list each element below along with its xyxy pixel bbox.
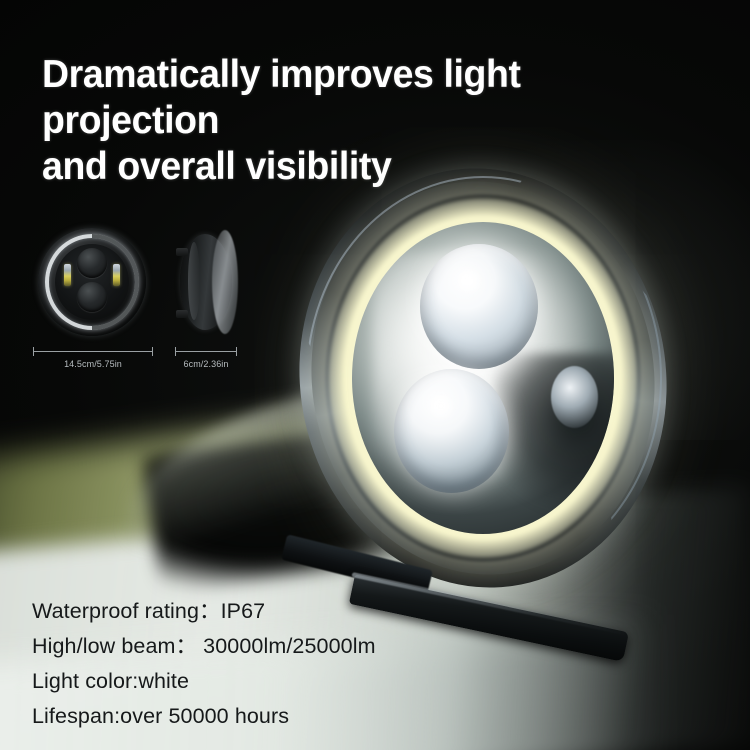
chrome-reflector-nub — [551, 366, 598, 428]
spec-lifespan: Lifespan:over 50000 hours — [32, 699, 592, 734]
thumb-front-face — [55, 244, 129, 320]
dimension-cap-right — [152, 347, 153, 356]
thumb-side-mount-tab-top — [176, 248, 188, 256]
dimension-cap-right — [236, 347, 237, 356]
product-thumbnails: 14.5cm/5.75in 6cm/2.36in — [0, 0, 290, 400]
illuminated-headlight-hero — [300, 168, 666, 588]
thumb-projector-lens-lower — [77, 282, 107, 312]
reflector-shadow — [493, 353, 614, 515]
dimension-callout-depth: 6cm/2.36in — [175, 347, 237, 369]
front-view-headlight — [38, 228, 146, 336]
spec-light-color: Light color:white — [32, 664, 592, 699]
projector-lens-upper — [420, 244, 538, 369]
thumb-side-lens-rim — [212, 230, 238, 334]
lens-specular-highlight — [424, 391, 459, 421]
thumb-projector-lens-upper — [77, 248, 107, 278]
thumb-led-strip-left — [64, 264, 71, 286]
headlight-reflector-face — [352, 222, 614, 534]
lens-specular-highlight — [451, 266, 486, 296]
side-profile-headlight — [176, 228, 240, 336]
dimension-bar — [175, 347, 237, 356]
spec-waterproof-rating: Waterproof rating：IP67 — [32, 594, 592, 629]
thumb-side-mount-tab-bottom — [176, 310, 188, 318]
projector-lens-lower — [394, 369, 509, 494]
specification-list: Waterproof rating：IP67 High/low beam： 30… — [32, 594, 592, 734]
dimension-bar — [33, 347, 153, 356]
product-marketing-image: Dramatically improves light projection a… — [0, 0, 750, 750]
dimension-cap-left — [175, 347, 176, 356]
dimension-label: 6cm/2.36in — [175, 359, 237, 369]
dimension-cap-left — [33, 347, 34, 356]
dimension-callout-diameter: 14.5cm/5.75in — [33, 347, 153, 369]
thumb-side-ridge — [188, 242, 200, 320]
thumb-led-strip-right — [113, 264, 120, 286]
dimension-label: 14.5cm/5.75in — [33, 359, 153, 369]
spec-beam-output: High/low beam： 30000lm/25000lm — [32, 629, 592, 664]
